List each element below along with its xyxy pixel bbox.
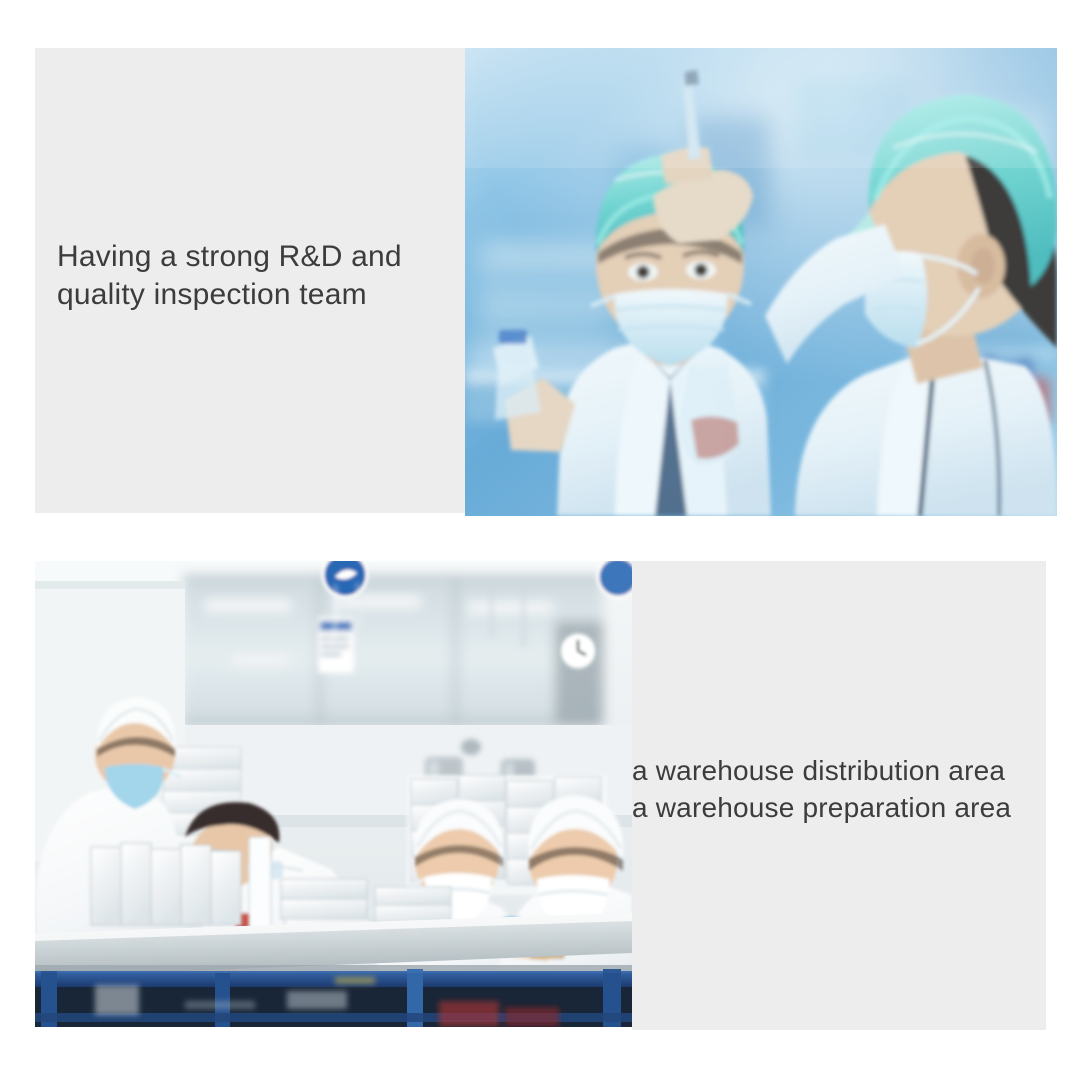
warehouse-scene bbox=[35, 561, 632, 1027]
section-warehouse-areas: a warehouse distribution area a warehous… bbox=[35, 561, 1046, 1030]
caption-text-rd-quality-team: Having a strong R&D and quality inspecti… bbox=[57, 238, 457, 315]
section-rd-quality-team: Having a strong R&D and quality inspecti… bbox=[35, 48, 1057, 516]
page-root: Having a strong R&D and quality inspecti… bbox=[0, 0, 1080, 1080]
lab-scene-illustration bbox=[465, 48, 1057, 516]
caption-text-warehouse-areas: a warehouse distribution area a warehous… bbox=[632, 753, 1038, 827]
lab-scene bbox=[465, 48, 1057, 516]
warehouse-packing-photo bbox=[35, 561, 632, 1027]
caption-panel-top: Having a strong R&D and quality inspecti… bbox=[35, 48, 465, 513]
lab-quality-inspection-photo bbox=[465, 48, 1057, 516]
warehouse-scene-illustration bbox=[35, 561, 632, 1027]
caption-panel-bottom: a warehouse distribution area a warehous… bbox=[632, 561, 1046, 1030]
